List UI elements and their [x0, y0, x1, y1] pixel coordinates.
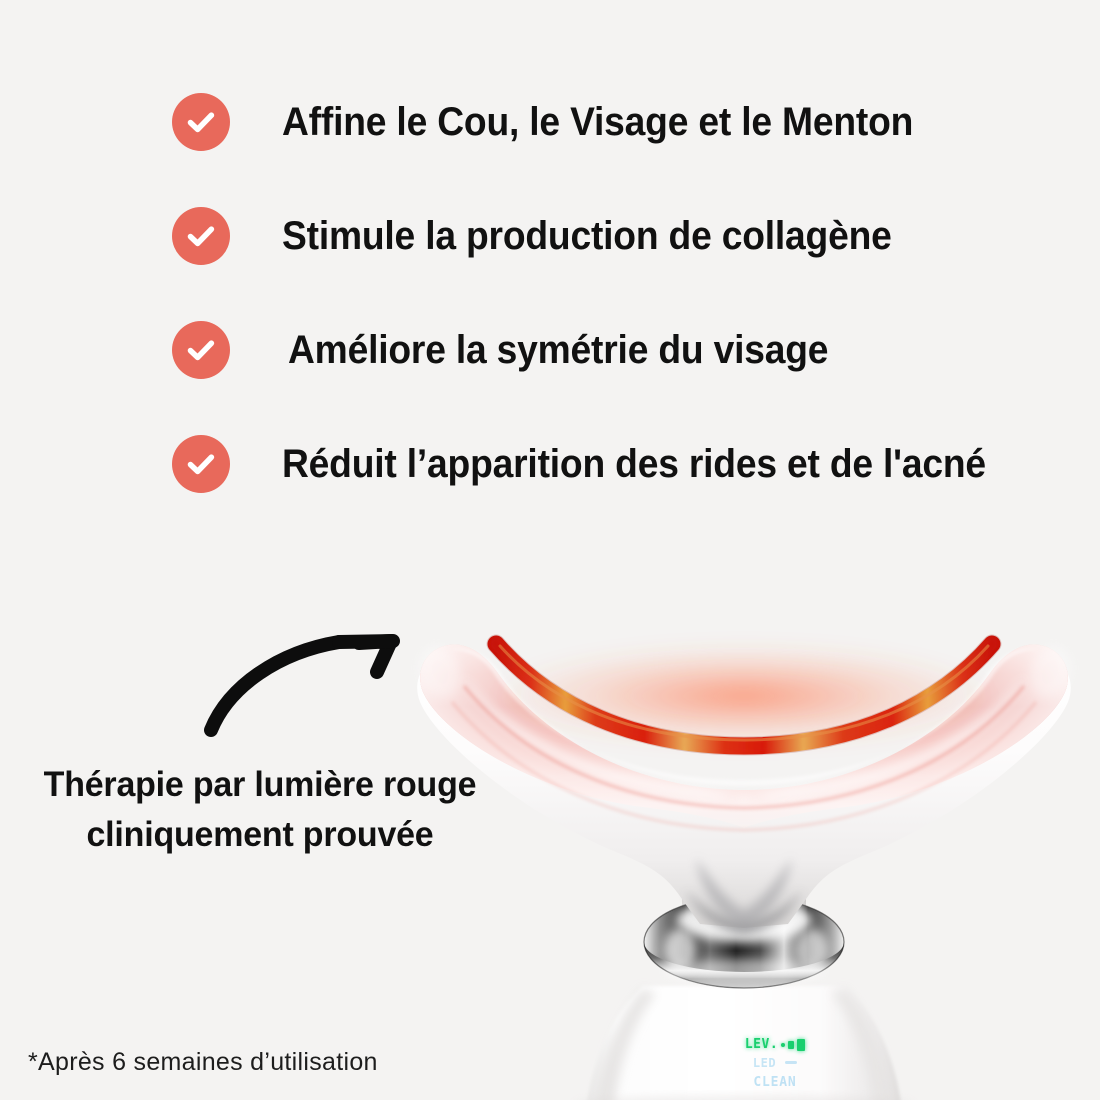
callout-line-2: cliniquement prouvée: [18, 810, 503, 860]
display-level-bar-1: [788, 1041, 794, 1049]
callout-caption: Thérapie par lumière rouge cliniquement …: [10, 760, 510, 859]
check-circle-icon: [172, 321, 230, 379]
display-mode-label: LED: [753, 1057, 776, 1070]
benefit-item-3: Améliore la symétrie du visage: [172, 319, 869, 381]
device-display: LEV. LED CLEAN: [715, 1038, 835, 1090]
benefit-label: Stimule la production de collagène: [282, 216, 892, 256]
benefit-label: Affine le Cou, le Visage et le Menton: [282, 102, 913, 142]
display-level-dot: [781, 1043, 785, 1047]
benefit-item-4: Réduit l’apparition des rides et de l'ac…: [172, 433, 1039, 495]
callout-line-1: Thérapie par lumière rouge: [18, 760, 503, 810]
display-level-label: LEV.: [745, 1038, 778, 1052]
display-clean-label: CLEAN: [715, 1076, 835, 1090]
curved-arrow-icon: [195, 600, 445, 760]
footnote: *Après 6 semaines d’utilisation: [28, 1048, 378, 1077]
benefit-label: Améliore la symétrie du visage: [288, 330, 828, 370]
display-level-row: LEV.: [715, 1038, 835, 1052]
display-mode-row: LED: [715, 1057, 835, 1070]
check-circle-icon: [172, 93, 230, 151]
benefit-item-2: Stimule la production de collagène: [172, 205, 938, 267]
benefit-label: Réduit l’apparition des rides et de l'ac…: [282, 444, 986, 484]
check-circle-icon: [172, 435, 230, 493]
display-level-bar-2: [797, 1039, 805, 1051]
benefit-item-1: Affine le Cou, le Visage et le Menton: [172, 91, 961, 153]
display-mode-dash: [785, 1061, 797, 1064]
product-feature-graphic: Affine le Cou, le Visage et le Menton St…: [0, 0, 1100, 1100]
check-circle-icon: [172, 207, 230, 265]
